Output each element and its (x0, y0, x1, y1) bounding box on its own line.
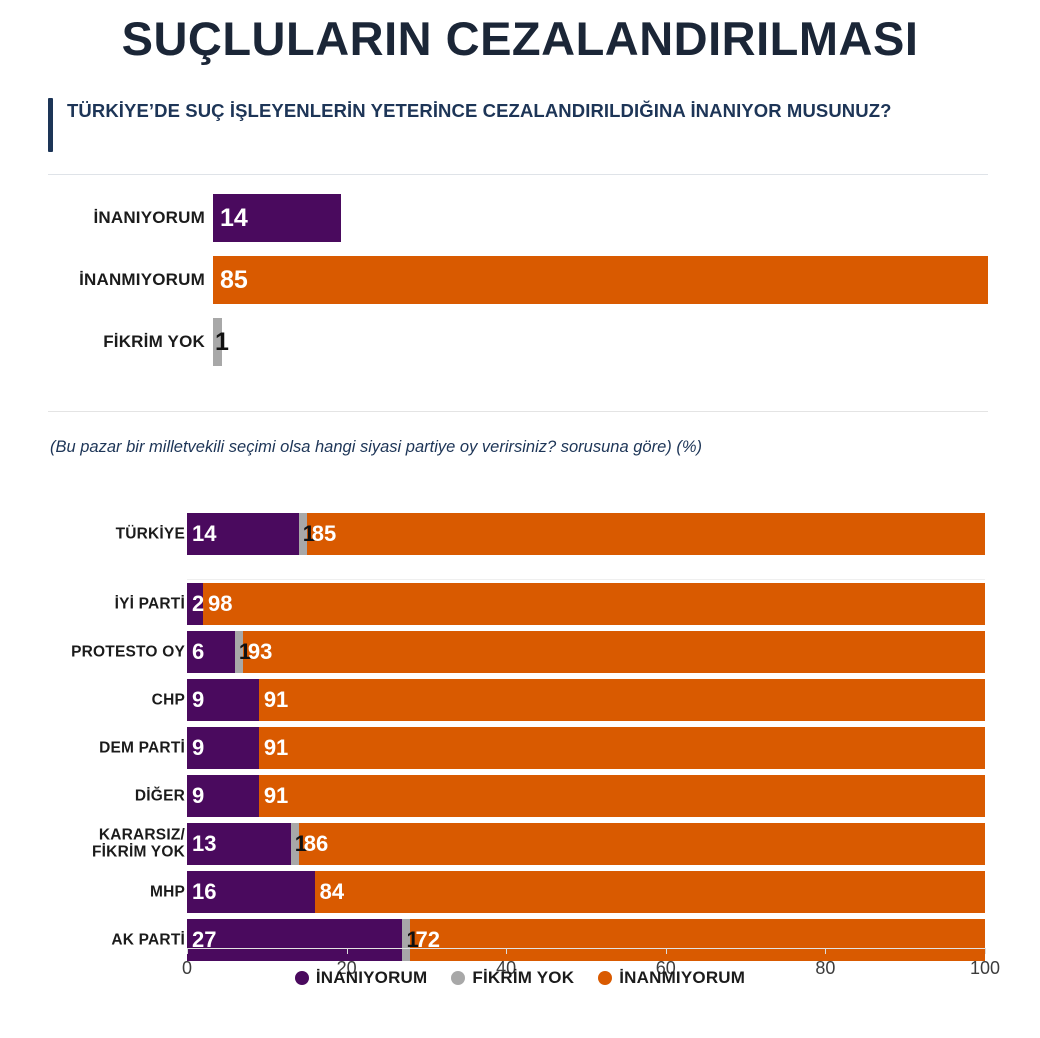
x-axis-tick (347, 948, 348, 954)
chart2-bar-segment: 91 (259, 679, 985, 721)
divider-top (48, 174, 988, 175)
chart2-segment-value: 6 (192, 641, 204, 663)
chart2-bar-segment: 84 (315, 871, 985, 913)
chart2-bar-segment: 9 (187, 727, 259, 769)
chart1-bar: 1 (213, 318, 222, 366)
chart2-stacked-bar: 991 (187, 775, 985, 817)
subtitle-text: TÜRKİYE’DE SUÇ İŞLEYENLERİN YETERİNCE CE… (67, 98, 892, 124)
legend-item: İNANMIYORUM (598, 968, 745, 988)
chart2-stacked-bar: 991 (187, 727, 985, 769)
chart2-segment-value: 98 (208, 593, 232, 615)
chart2-segment-value: 91 (264, 689, 288, 711)
chart2-segment-value: 9 (192, 689, 204, 711)
table-row: TÜRKİYE14185 (0, 513, 1040, 555)
chart2-row-label: İYİ PARTİ (0, 595, 185, 612)
chart-overall-bars: İNANIYORUM14İNANMIYORUM85FİKRİM YOK1 (0, 186, 1040, 396)
table-row: DEM PARTİ991 (0, 727, 1040, 769)
chart1-row: FİKRİM YOK1 (0, 318, 1040, 366)
chart2-bar-segment: 2 (187, 583, 203, 625)
table-row: İYİ PARTİ298 (0, 583, 1040, 625)
chart2-stacked-bar: 1684 (187, 871, 985, 913)
chart2-bar-segment: 1 (299, 513, 307, 555)
chart2-bar-segment: 1 (235, 631, 243, 673)
chart2-bar-segment: 6 (187, 631, 235, 673)
chart2-note: (Bu pazar bir milletvekili seçimi olsa h… (50, 438, 702, 457)
chart2-segment-value: 14 (192, 523, 216, 545)
x-axis-tick (187, 948, 188, 954)
legend-item: FİKRİM YOK (451, 968, 574, 988)
legend-item-label: FİKRİM YOK (472, 968, 574, 988)
subtitle-block: TÜRKİYE’DE SUÇ İŞLEYENLERİN YETERİNCE CE… (48, 98, 988, 152)
divider-middle (48, 411, 988, 412)
chart2-bar-segment: 93 (243, 631, 985, 673)
chart2-row-label: CHP (0, 691, 185, 708)
x-axis-line (187, 948, 985, 949)
chart2-row-label: PROTESTO OY (0, 643, 185, 660)
chart2-segment-value: 91 (264, 785, 288, 807)
chart1-row-label: İNANIYORUM (0, 208, 205, 228)
chart-by-party-stacked: (Bu pazar bir milletvekili seçimi olsa h… (0, 432, 1040, 1032)
chart2-plot-area: TÜRKİYE14185İYİ PARTİ298PROTESTO OY6193C… (0, 472, 1040, 952)
chart2-stacked-bar: 298 (187, 583, 985, 625)
chart2-bar-segment: 14 (187, 513, 299, 555)
chart2-segment-value: 9 (192, 737, 204, 759)
chart2-row-label: TÜRKİYE (0, 525, 185, 542)
chart2-row-label: DEM PARTİ (0, 739, 185, 756)
legend-item-label: İNANMIYORUM (619, 968, 745, 988)
chart2-bar-segment: 13 (187, 823, 291, 865)
chart2-bar-segment: 91 (259, 727, 985, 769)
chart1-bar-value: 85 (220, 268, 248, 293)
table-row: MHP1684 (0, 871, 1040, 913)
chart2-segment-value: 27 (192, 929, 216, 951)
x-axis-tick (985, 948, 986, 954)
chart-legend: İNANIYORUMFİKRİM YOKİNANMIYORUM (0, 968, 1040, 988)
chart2-bar-segment: 9 (187, 775, 259, 817)
chart2-group-separator (187, 579, 985, 580)
chart2-segment-value: 13 (192, 833, 216, 855)
chart1-bar: 85 (213, 256, 988, 304)
chart2-segment-value: 86 (304, 833, 328, 855)
circle-icon (451, 971, 465, 985)
x-axis-tick (825, 948, 826, 954)
subtitle-accent-bar (48, 98, 53, 152)
page-title: SUÇLULARIN CEZALANDIRILMASI (0, 14, 1040, 63)
table-row: CHP991 (0, 679, 1040, 721)
chart1-row: İNANMIYORUM85 (0, 256, 1040, 304)
chart2-bar-segment: 9 (187, 679, 259, 721)
chart2-segment-value: 91 (264, 737, 288, 759)
chart2-row-label: MHP (0, 883, 185, 900)
chart2-bar-segment: 91 (259, 775, 985, 817)
chart1-bar-value: 1 (215, 330, 229, 355)
chart2-stacked-bar: 13186 (187, 823, 985, 865)
chart2-bar-segment: 86 (299, 823, 985, 865)
chart2-bar-segment: 98 (203, 583, 985, 625)
chart2-segment-value: 84 (320, 881, 344, 903)
chart2-segment-value: 9 (192, 785, 204, 807)
chart2-segment-value: 85 (312, 523, 336, 545)
chart2-segment-value: 2 (192, 593, 204, 615)
x-axis-tick (666, 948, 667, 954)
chart2-segment-value: 93 (248, 641, 272, 663)
chart1-bar: 14 (213, 194, 341, 242)
circle-icon (295, 971, 309, 985)
chart2-stacked-bar: 991 (187, 679, 985, 721)
x-axis-tick (506, 948, 507, 954)
legend-item: İNANIYORUM (295, 968, 428, 988)
chart1-bar-value: 14 (220, 206, 248, 231)
chart2-stacked-bar: 6193 (187, 631, 985, 673)
chart2-bar-segment: 16 (187, 871, 315, 913)
chart2-segment-value: 16 (192, 881, 216, 903)
chart2-row-label: DİĞER (0, 787, 185, 804)
chart2-row-label: KARARSIZ/ FİKRİM YOK (0, 827, 185, 862)
chart2-stacked-bar: 14185 (187, 513, 985, 555)
chart2-bar-segment: 1 (291, 823, 299, 865)
chart1-row-label: FİKRİM YOK (0, 332, 205, 352)
table-row: KARARSIZ/ FİKRİM YOK13186 (0, 823, 1040, 865)
table-row: DİĞER991 (0, 775, 1040, 817)
chart2-segment-value: 72 (415, 929, 439, 951)
legend-item-label: İNANIYORUM (316, 968, 428, 988)
circle-icon (598, 971, 612, 985)
chart1-row-label: İNANMIYORUM (0, 270, 205, 290)
chart2-row-label: AK PARTİ (0, 931, 185, 948)
table-row: PROTESTO OY6193 (0, 631, 1040, 673)
chart2-bar-segment: 85 (307, 513, 985, 555)
chart1-row: İNANIYORUM14 (0, 194, 1040, 242)
